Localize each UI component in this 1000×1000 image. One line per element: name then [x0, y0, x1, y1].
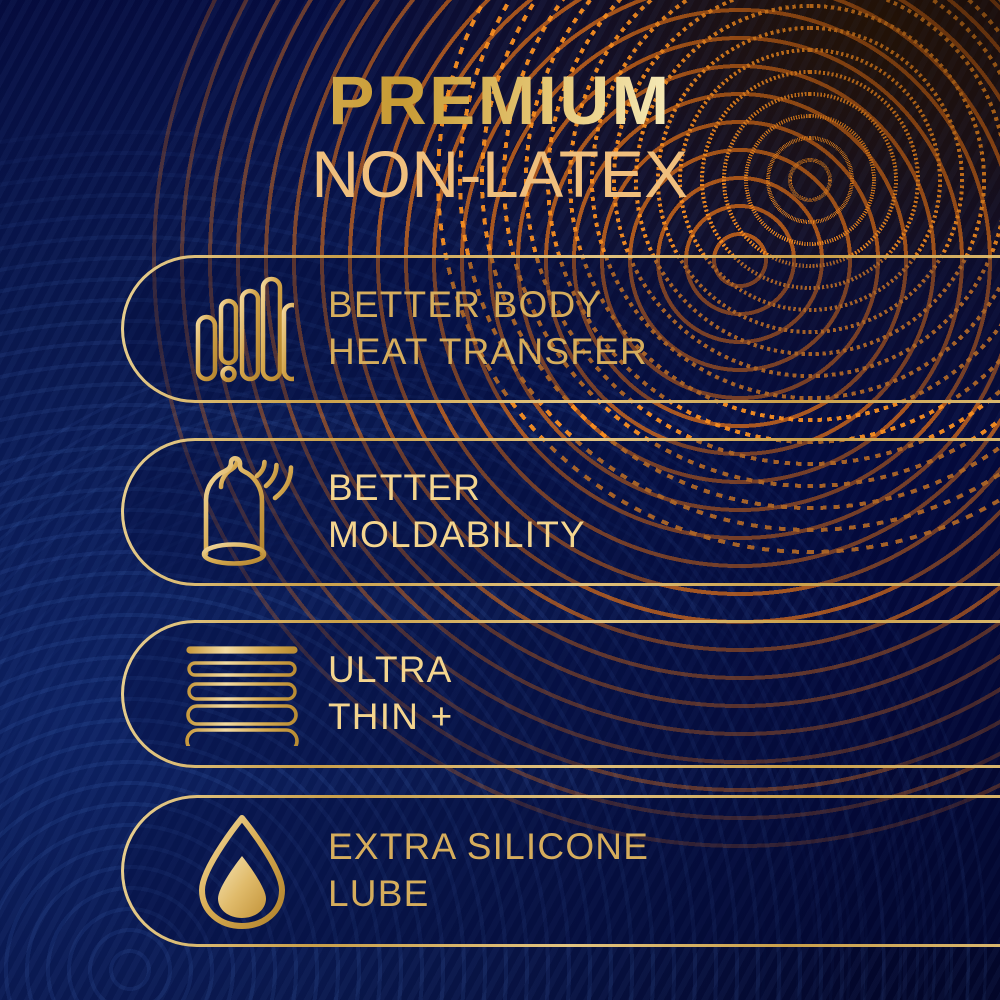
headline-block: PREMIUM NON-LATEX [0, 66, 1000, 208]
feature-label: BETTER MOLDABILITY [328, 465, 586, 559]
feature-label: ULTRA THIN + [328, 647, 453, 741]
feature-label: EXTRA SILICONE LUBE [328, 824, 649, 918]
feature-label: BETTER BODY HEAT TRANSFER [328, 282, 648, 376]
feature-card-better-body-heat-transfer[interactable]: BETTER BODY HEAT TRANSFER [121, 255, 1000, 403]
feature-card-extra-silicone-lube[interactable]: EXTRA SILICONE LUBE [121, 795, 1000, 947]
thin-layers-icon [172, 642, 312, 746]
headline-premium: PREMIUM [0, 66, 1000, 135]
feature-card-ultra-thin-plus[interactable]: ULTRA THIN + [121, 620, 1000, 768]
droplet-icon [172, 812, 312, 930]
product-feature-poster: PREMIUM NON-LATEX [0, 0, 1000, 1000]
waveform-icon [172, 273, 312, 385]
headline-non-latex: NON-LATEX [0, 141, 1000, 208]
feature-card-better-moldability[interactable]: BETTER MOLDABILITY [121, 438, 1000, 586]
condom-signal-icon [172, 456, 312, 568]
